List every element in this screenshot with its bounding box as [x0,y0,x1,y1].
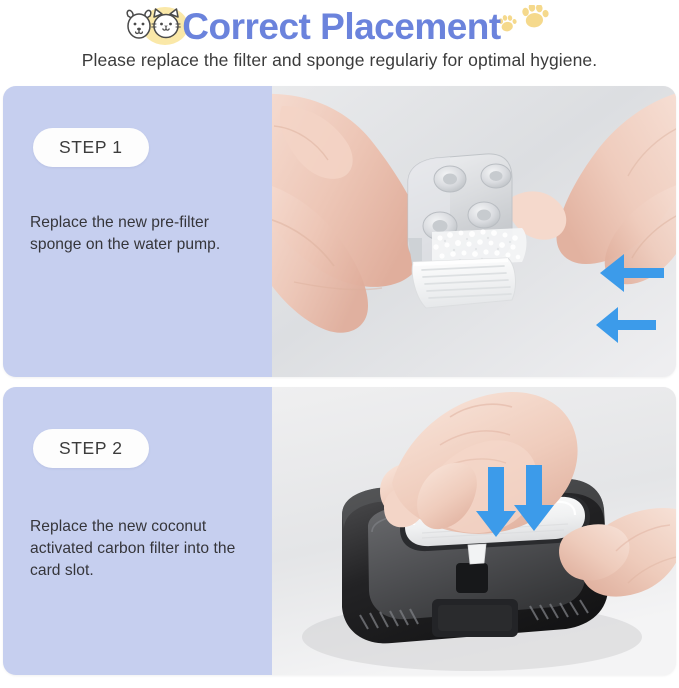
instruction-page: Correct Placement [0,0,679,688]
page-title: Correct Placement [182,8,500,45]
step-2-description: Replace the new coconut activated carbon… [30,516,256,582]
page-subtitle: Please replace the filter and sponge reg… [0,50,679,71]
step-2-photo [272,387,676,675]
paw-prints [497,5,559,47]
step-1-badge: STEP 1 [33,128,149,167]
step-panel-2: STEP 2 Replace the new coconut activated… [3,387,676,675]
title-row: Correct Placement [0,2,679,50]
step-2-badge: STEP 2 [33,429,149,468]
page-header: Correct Placement [0,0,679,84]
step-2-text-area: STEP 2 Replace the new coconut activated… [3,387,272,675]
step-1-photo [272,86,676,377]
step-panel-1: STEP 1 Replace the new pre-filter sponge… [3,86,676,377]
step-1-text-area: STEP 1 Replace the new pre-filter sponge… [3,86,272,377]
step-1-description: Replace the new pre-filter sponge on the… [30,212,256,256]
